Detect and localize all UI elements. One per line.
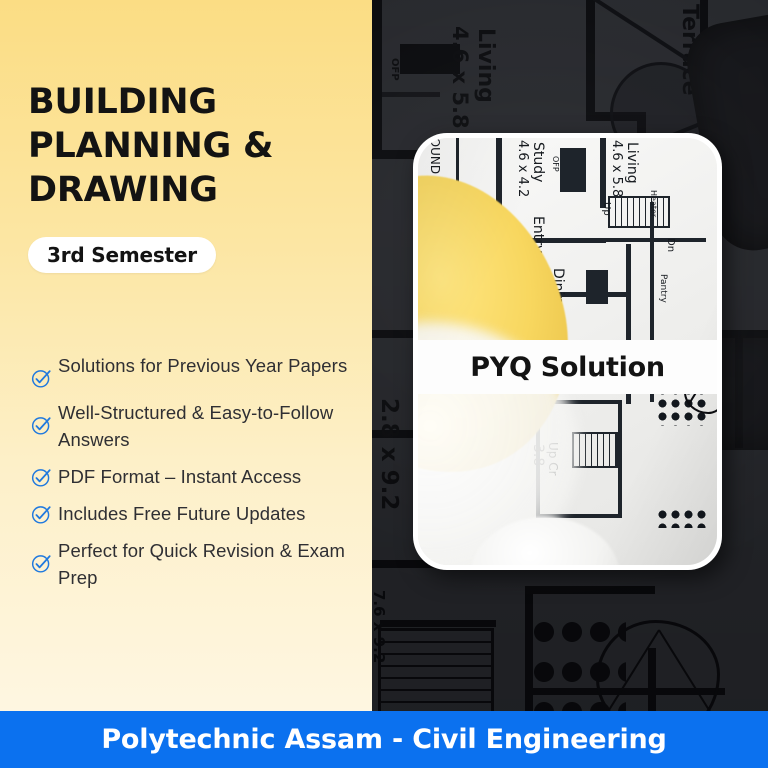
product-card-image: GROUND FLOOR Study 4.6 x 4.2 Entry Veran… xyxy=(418,138,717,565)
list-item-label: Well-Structured & Easy-to-Follow Answers xyxy=(58,399,360,453)
list-item: Includes Free Future Updates xyxy=(24,500,360,527)
list-item: PDF Format – Instant Access xyxy=(24,463,360,490)
pyq-solution-label: PYQ Solution xyxy=(418,340,717,394)
list-item: Solutions for Previous Year Papers xyxy=(24,352,360,389)
pyq-solution-text: PYQ Solution xyxy=(470,352,665,383)
product-card[interactable]: GROUND FLOOR Study 4.6 x 4.2 Entry Veran… xyxy=(413,133,722,570)
headline-line-3: DRAWING xyxy=(28,168,348,212)
check-circle-icon xyxy=(24,352,58,389)
list-item-label: Solutions for Previous Year Papers xyxy=(58,352,347,379)
check-circle-icon xyxy=(24,463,58,488)
list-item-label: Includes Free Future Updates xyxy=(58,500,306,527)
bottom-banner: Polytechnic Assam - Civil Engineering xyxy=(0,711,768,768)
list-item: Well-Structured & Easy-to-Follow Answers xyxy=(24,399,360,453)
check-circle-icon xyxy=(24,500,58,525)
headline-line-1: BUILDING xyxy=(28,80,348,124)
list-item: Perfect for Quick Revision & Exam Prep xyxy=(24,537,360,591)
check-circle-icon xyxy=(24,537,58,574)
list-item-label: Perfect for Quick Revision & Exam Prep xyxy=(58,537,360,591)
page-title: BUILDING PLANNING & DRAWING xyxy=(28,80,348,212)
check-circle-icon xyxy=(24,399,58,436)
headline-line-2: PLANNING & xyxy=(28,124,348,168)
list-item-label: PDF Format – Instant Access xyxy=(58,463,301,490)
left-yellow-panel: BUILDING PLANNING & DRAWING 3rd Semester… xyxy=(0,0,372,711)
feature-list: Solutions for Previous Year Papers Well-… xyxy=(24,352,360,601)
semester-badge-label: 3rd Semester xyxy=(47,243,197,267)
poster-canvas: Living 4.6 x 5.8 Terrace OFP 2.8 x 9.2 7… xyxy=(0,0,768,768)
bottom-banner-text: Polytechnic Assam - Civil Engineering xyxy=(101,724,666,755)
semester-badge: 3rd Semester xyxy=(28,237,216,273)
